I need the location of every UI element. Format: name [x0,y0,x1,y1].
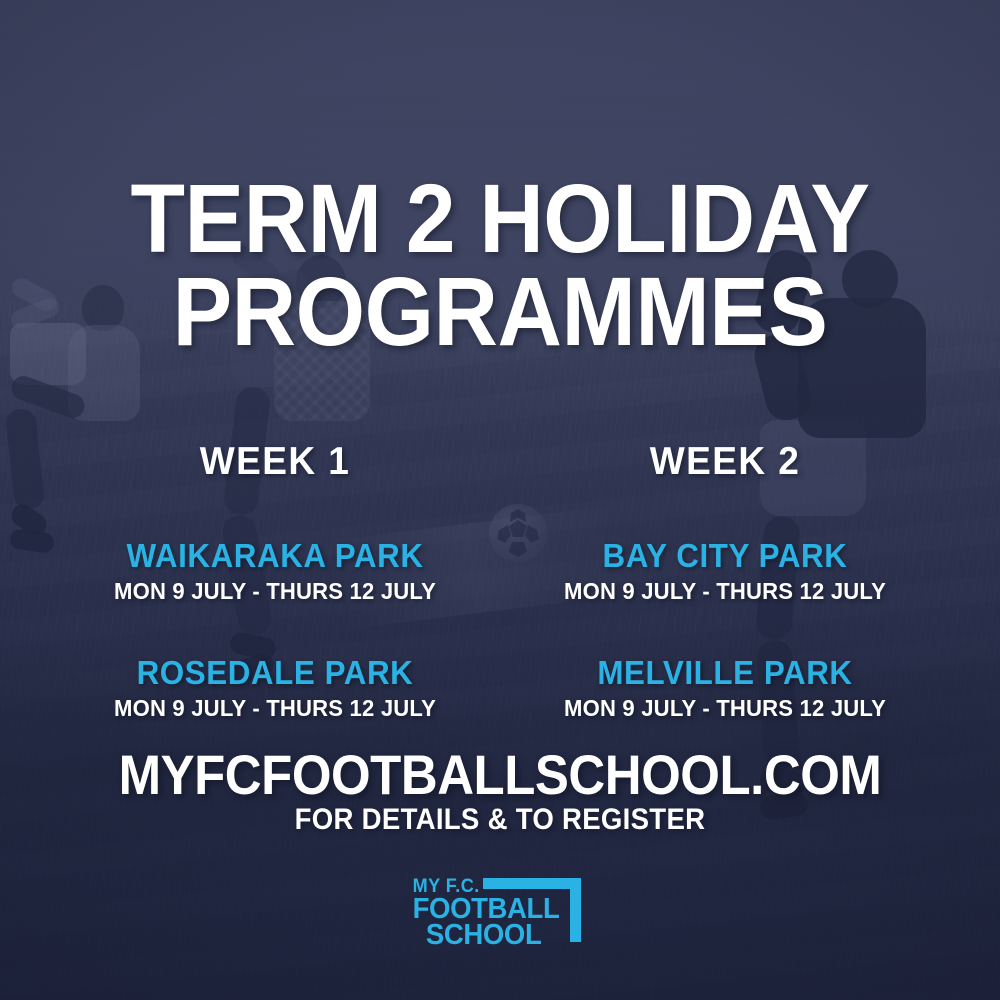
venue-dates: MON 9 JULY - THURS 12 JULY [64,695,487,722]
venue-dates: MON 9 JULY - THURS 12 JULY [514,695,937,722]
poster-content: TERM 2 HOLIDAY PROGRAMMES WEEK 1 WAIKARA… [0,0,1000,1000]
brand-logo: MY F.C. FOOTBALL SCHOOL [405,876,595,948]
promo-poster: TERM 2 HOLIDAY PROGRAMMES WEEK 1 WAIKARA… [0,0,1000,1000]
venue-dates: MON 9 JULY - THURS 12 JULY [514,578,937,605]
venue-name: MELVILLE PARK [511,654,939,692]
session-melville-park: MELVILLE PARK MON 9 JULY - THURS 12 JULY [500,654,950,722]
session-bay-city-park: BAY CITY PARK MON 9 JULY - THURS 12 JULY [500,537,950,605]
logo-line-3: SCHOOL [426,917,542,948]
schedule-columns: WEEK 1 WAIKARAKA PARK MON 9 JULY - THURS… [0,440,1000,722]
page-title-line-1: TERM 2 HOLIDAY [40,173,960,265]
venue-name: WAIKARAKA PARK [61,537,489,575]
session-waikaraka-park: WAIKARAKA PARK MON 9 JULY - THURS 12 JUL… [50,537,500,605]
week-2-heading: WEEK 2 [511,440,939,484]
week-2-column: WEEK 2 BAY CITY PARK MON 9 JULY - THURS … [500,440,950,722]
session-rosedale-park: ROSEDALE PARK MON 9 JULY - THURS 12 JULY [50,654,500,722]
week-1-column: WEEK 1 WAIKARAKA PARK MON 9 JULY - THURS… [50,440,500,722]
website-call-to-action: FOR DETAILS & TO REGISTER [40,803,960,837]
venue-name: BAY CITY PARK [511,537,939,575]
week-1-heading: WEEK 1 [61,440,489,484]
page-title-line-2: PROGRAMMES [40,266,960,358]
venue-name: ROSEDALE PARK [61,654,489,692]
website-url[interactable]: MYFCFOOTBALLSCHOOL.COM [45,742,955,807]
venue-dates: MON 9 JULY - THURS 12 JULY [64,578,487,605]
